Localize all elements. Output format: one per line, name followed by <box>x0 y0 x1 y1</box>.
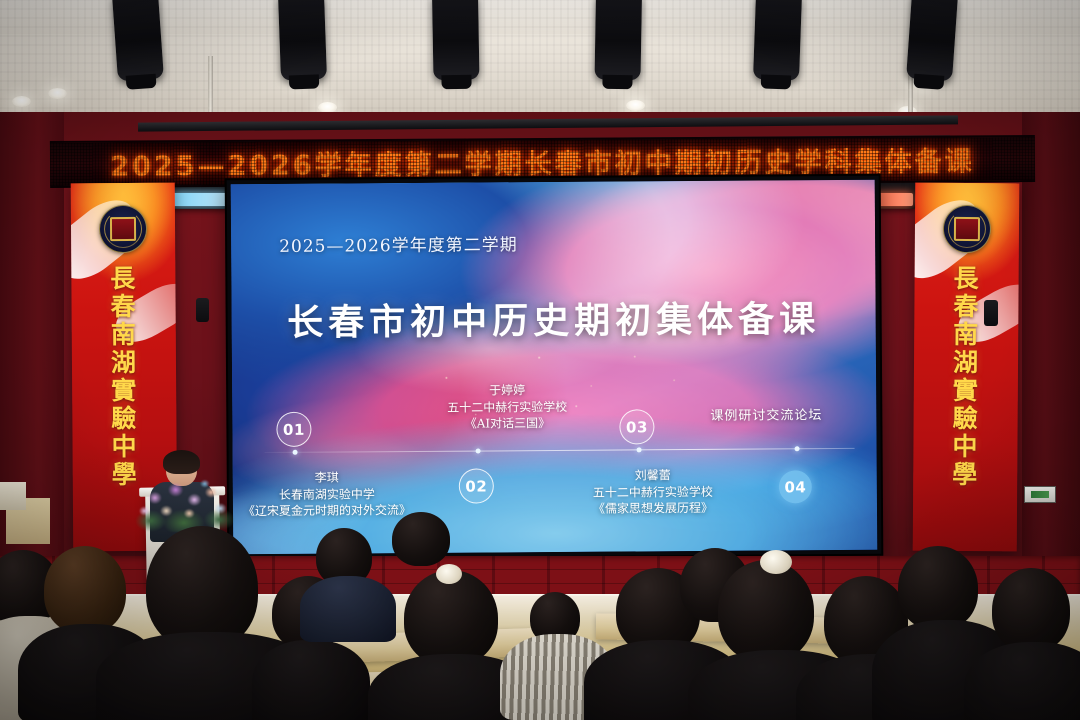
audience-head <box>404 570 498 666</box>
banner-right: 長 春 南 湖 實 驗 中 學 <box>913 183 1020 552</box>
banner-right-text: 長 春 南 湖 實 驗 中 學 <box>913 265 1019 490</box>
banner-char: 實 <box>914 377 1018 406</box>
banner-char: 長 <box>915 265 1019 294</box>
presenter-school: 五十二中赫行实验学校 <box>533 483 773 501</box>
stage-lamp <box>112 0 164 81</box>
wall-right-dark <box>1022 112 1080 582</box>
presenter-school: 长春南湖实验中学 <box>231 485 427 503</box>
crest-wreath <box>948 210 986 248</box>
audience-head <box>44 546 126 634</box>
timeline-entry-03: 刘馨蕾 五十二中赫行实验学校 《儒家思想发展历程》 <box>533 466 773 517</box>
projection-screen-frame: 2025—2026学年度第二学期 长春市初中历史期初集体备课 01 李琪 长春南… <box>227 176 882 559</box>
timeline-entry-01: 李琪 长春南湖实验中学 《辽宋夏金元时期的对外交流》 <box>231 469 427 520</box>
banner-char: 中 <box>913 433 1017 462</box>
audience-head <box>392 512 450 566</box>
presenter-name: 刘馨蕾 <box>533 466 773 484</box>
timeline-entry-04-label: 课例研讨交流论坛 <box>710 404 822 424</box>
exit-sign-icon <box>1024 486 1056 503</box>
crest-wreath <box>104 210 142 248</box>
slide-subtitle: 2025—2026学年度第二学期 <box>279 230 518 257</box>
downlight <box>48 88 67 99</box>
banner-char: 湖 <box>72 349 176 378</box>
conference-hall-photo: 2025—2026学年度第二学期长春市初中期初历史学科集体备课 長 春 南 湖 … <box>0 0 1080 720</box>
timeline-badge-04: 04 <box>779 470 812 503</box>
wash-light-lens <box>171 193 229 206</box>
presenter-topic: 《儒家思想发展历程》 <box>533 500 773 518</box>
slide-title: 长春市初中历史期初集体备课 <box>231 290 875 346</box>
timeline-badge-02: 02 <box>459 468 494 503</box>
hair-scrunchie <box>436 564 462 584</box>
timeline-badge-01: 01 <box>276 412 311 447</box>
school-crest-icon <box>99 205 147 253</box>
stage-lamp <box>432 0 479 80</box>
stage-lamp <box>595 0 642 80</box>
banner-char: 學 <box>913 461 1017 490</box>
audience-shoulders <box>300 576 396 642</box>
wall-speaker-right <box>984 300 998 326</box>
stage-lamp <box>278 0 327 81</box>
banner-char: 南 <box>72 321 176 350</box>
timeline-dot <box>795 446 800 451</box>
audience <box>0 520 1080 720</box>
banner-char: 驗 <box>914 405 1018 434</box>
banner-char: 南 <box>914 321 1018 350</box>
audience-head <box>992 568 1070 652</box>
ceiling-rod <box>208 56 213 118</box>
audience-shoulders <box>252 640 370 720</box>
presentation-slide: 2025—2026学年度第二学期 长春市初中历史期初集体备课 01 李琪 长春南… <box>231 180 878 554</box>
presenter-name: 李琪 <box>231 469 427 487</box>
banner-char: 實 <box>72 377 176 406</box>
presenter-topic: 《AI对话三国》 <box>392 415 622 433</box>
stage-lamp <box>906 0 958 81</box>
timeline-dot <box>637 447 642 452</box>
timeline-badge-03: 03 <box>619 409 654 444</box>
stage-lamp <box>753 0 802 81</box>
timeline-dot <box>476 449 481 454</box>
audience-head <box>898 546 978 630</box>
side-equipment-box <box>0 482 26 510</box>
timeline-dot <box>293 450 298 455</box>
downlight <box>626 100 645 111</box>
banner-char: 春 <box>71 293 175 322</box>
exit-sign-glyph <box>1031 491 1049 498</box>
downlight <box>12 96 31 107</box>
school-crest-icon <box>943 205 991 253</box>
timeline-entry-02: 于婷婷 五十二中赫行实验学校 《AI对话三国》 <box>392 382 622 433</box>
banner-char: 湖 <box>914 349 1018 378</box>
banner-char: 驗 <box>72 405 176 434</box>
presenter-name: 于婷婷 <box>392 382 622 400</box>
hair-scrunchie <box>760 550 792 574</box>
presenter-topic: 《辽宋夏金元时期的对外交流》 <box>231 502 427 520</box>
banner-char: 長 <box>71 265 175 294</box>
presenter-school: 五十二中赫行实验学校 <box>392 398 622 416</box>
banner-char: 春 <box>914 293 1018 322</box>
audience-head <box>718 560 814 662</box>
wall-speaker-left <box>196 298 209 322</box>
